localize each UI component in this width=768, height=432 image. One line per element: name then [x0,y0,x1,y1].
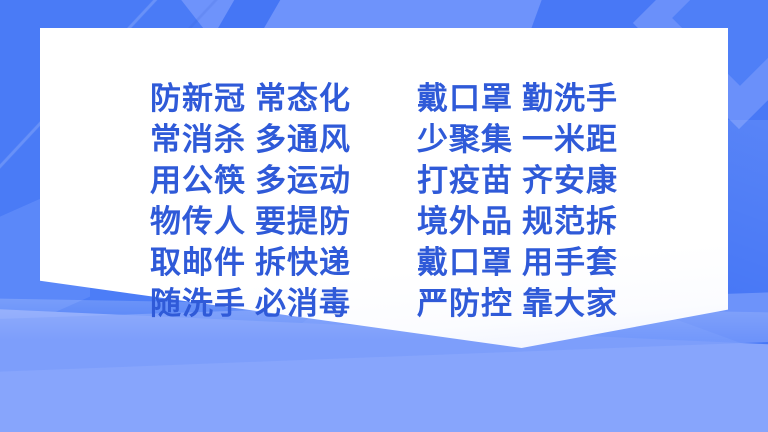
slogan-column-left: 防新冠常态化 常消杀多通风 用公筷多运动 物传人要提防 取邮件拆快递 随洗手必消… [150,79,351,324]
slogan-phrase: 靠大家 [522,286,618,322]
slogan-line: 防新冠常态化 [150,79,351,119]
slogan-phrase: 少聚集 [417,122,513,158]
poster-canvas: 防新冠常态化 常消杀多通风 用公筷多运动 物传人要提防 取邮件拆快递 随洗手必消… [0,0,768,432]
slogan-column-right: 戴口罩勤洗手 少聚集一米距 打疫苗齐安康 境外品规范拆 戴口罩用手套 严防控靠大… [417,79,618,324]
slogan-line: 境外品规范拆 [417,202,618,242]
slogan-phrase: 拆快递 [255,245,351,281]
slogan-line: 随洗手必消毒 [150,284,351,324]
slogan-line: 严防控靠大家 [417,284,618,324]
slogan-phrase: 多运动 [255,163,351,199]
slogan-phrase: 用手套 [522,245,618,281]
slogan-phrase: 戴口罩 [417,81,513,117]
slogan-phrase: 齐安康 [522,163,618,199]
slogan-phrase: 严防控 [417,286,513,322]
slogan-phrase: 戴口罩 [417,245,513,281]
slogan-phrase: 必消毒 [255,286,351,322]
slogan-phrase: 用公筷 [150,163,246,199]
slogan-line: 用公筷多运动 [150,161,351,201]
slogan-phrase: 常态化 [255,81,351,117]
slogan-line: 戴口罩勤洗手 [417,79,618,119]
slogan-phrase: 境外品 [417,204,513,240]
slogan-phrase: 一米距 [522,122,618,158]
slogan-phrase: 取邮件 [150,245,246,281]
slogan-line: 物传人要提防 [150,202,351,242]
slogan-line: 取邮件拆快递 [150,243,351,283]
slogan-line: 戴口罩用手套 [417,243,618,283]
slogan-phrase: 要提防 [255,204,351,240]
slogan-phrase: 多通风 [255,122,351,158]
slogan-phrase: 常消杀 [150,122,246,158]
slogan-phrase: 规范拆 [522,204,618,240]
slogan-phrase: 打疫苗 [417,163,513,199]
slogan-phrase: 勤洗手 [522,81,618,117]
slogan-line: 打疫苗齐安康 [417,161,618,201]
slogan-line: 常消杀多通风 [150,120,351,160]
slogan-phrase: 防新冠 [150,81,246,117]
slogan-grid: 防新冠常态化 常消杀多通风 用公筷多运动 物传人要提防 取邮件拆快递 随洗手必消… [40,28,728,348]
slogan-phrase: 随洗手 [150,286,246,322]
slogan-line: 少聚集一米距 [417,120,618,160]
slogan-phrase: 物传人 [150,204,246,240]
